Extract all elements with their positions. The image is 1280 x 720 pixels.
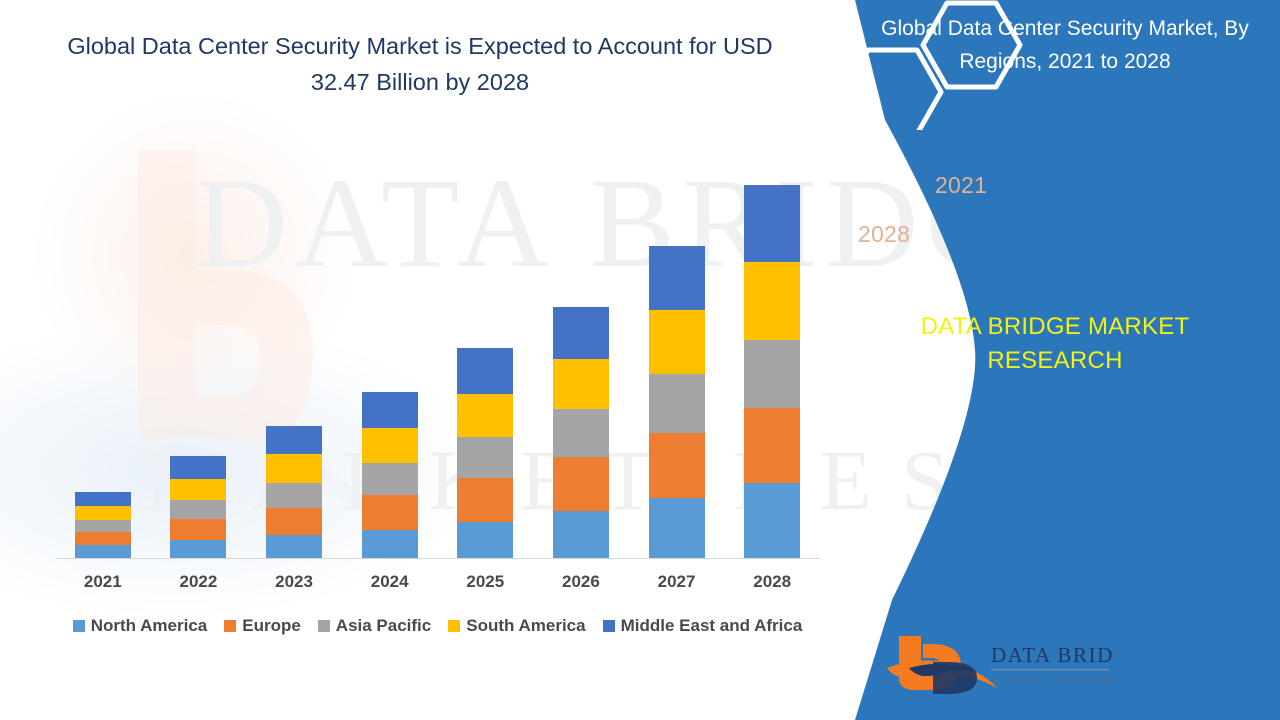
hexagon-end-year: 2028	[858, 221, 910, 248]
bar-slot-2026	[533, 160, 629, 558]
bar-segment[interactable]	[362, 428, 418, 463]
x-axis-label-2027: 2027	[629, 572, 725, 592]
bar-segment[interactable]	[457, 478, 513, 523]
footer-logo-line2: MARKET RESEARCH	[993, 676, 1115, 686]
page-title: Global Data Center Security Market is Ex…	[40, 28, 800, 100]
x-axis-label-2025: 2025	[438, 572, 534, 592]
legend-swatch-icon	[603, 620, 615, 632]
legend-label: Middle East and Africa	[621, 616, 803, 636]
x-axis-label-2021: 2021	[55, 572, 151, 592]
stacked-bar-chart	[55, 160, 820, 558]
x-axis-labels: 20212022202320242025202620272028	[55, 572, 820, 592]
stacked-bar-2028[interactable]	[744, 185, 800, 558]
bar-segment[interactable]	[457, 522, 513, 558]
stacked-bar-2023[interactable]	[266, 426, 322, 559]
bar-segment[interactable]	[744, 262, 800, 340]
bar-segment[interactable]	[170, 500, 226, 519]
bar-segment[interactable]	[744, 483, 800, 558]
chart-legend: North AmericaEuropeAsia PacificSouth Ame…	[50, 616, 825, 636]
bar-segment[interactable]	[75, 532, 131, 545]
bar-slot-2025	[438, 160, 534, 558]
bar-segment[interactable]	[553, 359, 609, 409]
bar-slot-2024	[342, 160, 438, 558]
footer-logo: DATA BRIDGE MARKET RESEARCH	[885, 632, 1115, 698]
bar-slot-2021	[55, 160, 151, 558]
legend-label: Asia Pacific	[336, 616, 431, 636]
legend-label: South America	[466, 616, 585, 636]
bar-segment[interactable]	[457, 437, 513, 478]
x-axis-label-2024: 2024	[342, 572, 438, 592]
bar-segment[interactable]	[553, 511, 609, 558]
brand-name: DATA BRIDGE MARKET RESEARCH	[855, 310, 1255, 378]
bar-segment[interactable]	[362, 495, 418, 530]
bar-segment[interactable]	[457, 394, 513, 438]
legend-label: North America	[91, 616, 208, 636]
data-bridge-logo-icon: DATA BRIDGE MARKET RESEARCH	[885, 632, 1115, 698]
x-axis-label-2028: 2028	[724, 572, 820, 592]
bar-segment[interactable]	[170, 456, 226, 479]
legend-item[interactable]: North America	[73, 616, 208, 636]
legend-swatch-icon	[318, 620, 330, 632]
x-axis-label-2023: 2023	[246, 572, 342, 592]
bar-segment[interactable]	[553, 409, 609, 457]
stacked-bar-2027[interactable]	[649, 246, 705, 558]
bar-segment[interactable]	[744, 185, 800, 262]
bar-segment[interactable]	[75, 492, 131, 506]
x-axis-line	[55, 558, 820, 559]
bar-segment[interactable]	[362, 392, 418, 429]
bar-segment[interactable]	[266, 535, 322, 558]
bar-segment[interactable]	[362, 530, 418, 559]
stacked-bar-2024[interactable]	[362, 392, 418, 559]
stacked-bar-2025[interactable]	[457, 348, 513, 558]
x-axis-label-2022: 2022	[151, 572, 247, 592]
bar-segment[interactable]	[649, 246, 705, 310]
legend-label: Europe	[242, 616, 301, 636]
brand-panel: Global Data Center Security Market, By R…	[830, 0, 1280, 720]
bar-segment[interactable]	[266, 454, 322, 483]
bar-segment[interactable]	[170, 479, 226, 501]
bar-segment[interactable]	[75, 506, 131, 520]
bar-segment[interactable]	[266, 508, 322, 536]
bar-slot-2022	[151, 160, 247, 558]
hexagon-pair-icon	[830, 0, 1030, 130]
bar-segment[interactable]	[75, 520, 131, 532]
bar-segment[interactable]	[362, 463, 418, 495]
stacked-bar-2022[interactable]	[170, 456, 226, 558]
legend-item[interactable]: Middle East and Africa	[603, 616, 803, 636]
bar-slot-2028	[724, 160, 820, 558]
bar-segment[interactable]	[744, 408, 800, 483]
bar-segment[interactable]	[75, 545, 131, 558]
bar-segment[interactable]	[649, 374, 705, 434]
screenshot-root: DATA BRIDGE MARKET RESEARCH Global Data …	[0, 0, 1280, 720]
bar-slot-2027	[629, 160, 725, 558]
bar-segment[interactable]	[170, 540, 226, 558]
legend-swatch-icon	[73, 620, 85, 632]
stacked-bar-2026[interactable]	[553, 307, 609, 558]
bar-segment[interactable]	[649, 498, 705, 558]
footer-logo-line1: DATA BRIDGE	[991, 643, 1115, 667]
bar-slot-2023	[246, 160, 342, 558]
legend-item[interactable]: South America	[448, 616, 585, 636]
bar-segment[interactable]	[457, 348, 513, 394]
hexagon-start-year: 2021	[935, 172, 987, 199]
bar-segment[interactable]	[553, 457, 609, 511]
stacked-bar-2021[interactable]	[75, 492, 131, 558]
bar-segment[interactable]	[266, 483, 322, 508]
chart-panel: Global Data Center Security Market is Ex…	[0, 0, 860, 720]
legend-swatch-icon	[224, 620, 236, 632]
bar-segment[interactable]	[553, 307, 609, 359]
bar-segment[interactable]	[744, 340, 800, 408]
legend-swatch-icon	[448, 620, 460, 632]
bar-segment[interactable]	[649, 433, 705, 498]
bar-segment[interactable]	[170, 519, 226, 540]
x-axis-label-2026: 2026	[533, 572, 629, 592]
brand-panel-content: Global Data Center Security Market, By R…	[830, 0, 1280, 720]
legend-item[interactable]: Europe	[224, 616, 301, 636]
bar-segment[interactable]	[649, 310, 705, 374]
bar-segment[interactable]	[266, 426, 322, 455]
legend-item[interactable]: Asia Pacific	[318, 616, 431, 636]
